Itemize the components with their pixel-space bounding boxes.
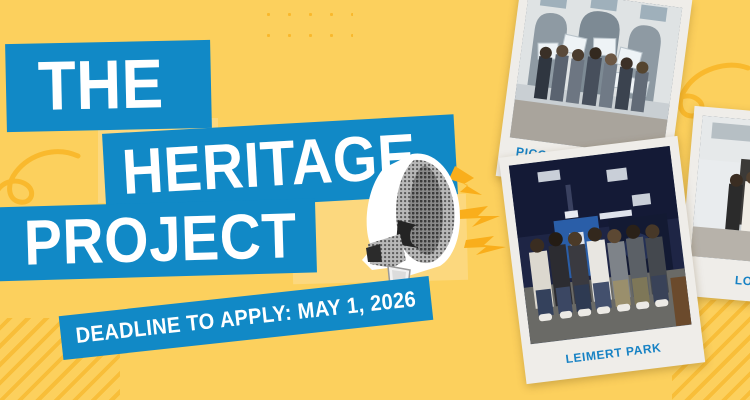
dot-grid-pattern (255, 0, 353, 48)
deadline-banner: DEADLINE TO APPLY: MAY 1, 2026 (59, 276, 434, 360)
photo-image-los-angeles (690, 116, 750, 268)
headline-word-project: PROJECT (23, 204, 297, 275)
heritage-project-poster: THE HERITAGE PROJECT (0, 0, 750, 400)
headline-bar-the: THE (5, 40, 212, 132)
deadline-text: DEADLINE TO APPLY: MAY 1, 2026 (75, 287, 418, 349)
photo-image-leimert-park (509, 146, 692, 344)
megaphone-icon (348, 148, 513, 293)
photo-image-pico-house (510, 0, 682, 158)
headline-bar-project: PROJECT (0, 198, 317, 281)
headline-word-the: THE (37, 50, 164, 122)
photo-card-leimert-park: LEIMERT PARK (499, 136, 705, 384)
